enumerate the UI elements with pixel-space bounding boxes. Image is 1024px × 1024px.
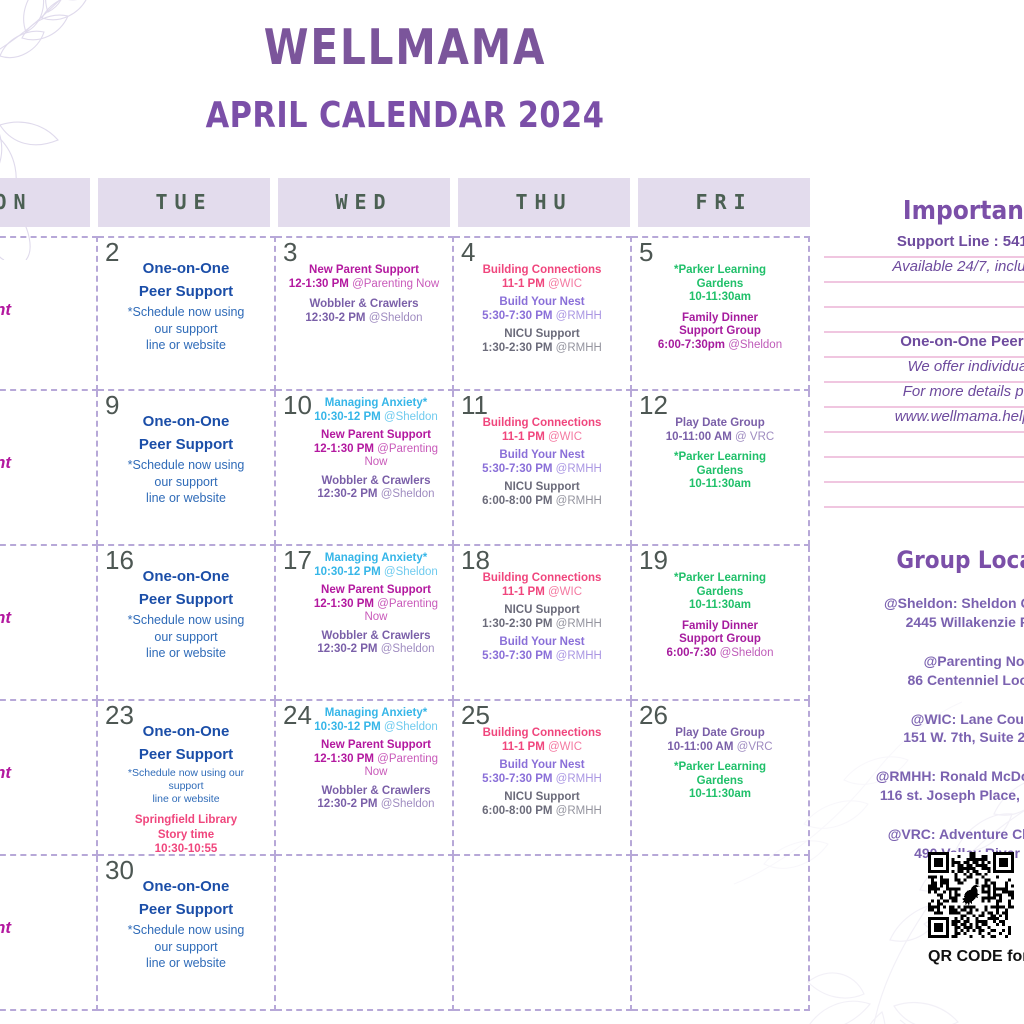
springfield-library-event[interactable]: Springfield LibraryStory time10:30-10:55 <box>103 813 269 856</box>
peer-support-note: *Schedule now usingour supportline or we… <box>103 922 269 972</box>
event-time: 10-11:30am <box>689 478 751 490</box>
important-line-2: Available 24/7, includin <box>824 258 1024 283</box>
event-time: 1:30-2:30 PM <box>482 342 552 354</box>
peer-support-note: *Schedule now using oursupportline or we… <box>103 767 269 806</box>
event-title: New Parent Support <box>305 429 447 443</box>
event-time: 10-11:00 AM <box>666 431 732 443</box>
day-number: 30 <box>105 857 134 883</box>
calendar-event[interactable]: Wobbler & Crawlers12:30-2 PM @Sheldon <box>305 630 447 657</box>
event-time-location: 12-1:30 PM @Parenting Now <box>305 753 447 780</box>
event-title: *Parker Learning <box>637 451 803 465</box>
calendar-event[interactable]: Build Your Nest5:30-7:30 PM @RMHH <box>459 636 625 663</box>
event-time-location: 11-1 PM @WIC <box>459 431 625 445</box>
qr-code-caption: QR CODE for mor <box>928 948 1024 966</box>
calendar-event[interactable]: Family DinnerSupport Group6:00-7:30 @She… <box>637 620 803 661</box>
event-location: @Parenting Now <box>349 278 439 290</box>
event-time-location: 11-1 PM @WIC <box>459 278 625 292</box>
calendar-event[interactable]: Family DinnerSupport Group6:00-7:30pm @S… <box>637 312 803 353</box>
calendar-event[interactable]: Wobbler & Crawlers12:30-2 PM @Sheldon <box>281 298 447 325</box>
peer-support-event[interactable]: One-on-OnePeer Support*Schedule now usin… <box>103 566 269 662</box>
calendar-day-cell-2[interactable]: 2One-on-OnePeer Support*Schedule now usi… <box>98 236 276 391</box>
calendar-event[interactable]: Build Your Nest5:30-7:30 PM @RMHH <box>459 759 625 786</box>
event-time: 11-1 PM <box>502 586 545 598</box>
calendar-event[interactable]: Play Date Group10-11:00 AM @ VRC <box>637 417 803 444</box>
event-title: Building Connections <box>459 264 625 278</box>
event-time-location: 5:30-7:30 PM @RMHH <box>459 650 625 664</box>
event-time: 12-1:30 PM <box>314 598 374 610</box>
calendar-event[interactable]: NICU Support6:00-8:00 PM @RMHH <box>459 481 625 508</box>
calendar-day-cell-empty[interactable]: velopment <box>0 236 98 391</box>
peer-support-event[interactable]: One-on-OnePeer Support*Schedule now usin… <box>103 721 269 856</box>
event-time: 10-11:30am <box>689 788 751 800</box>
event-location: @Parenting Now <box>364 443 438 469</box>
calendar-event[interactable]: Build Your Nest5:30-7:30 PM @RMHH <box>459 296 625 323</box>
event-location: @Sheldon <box>716 647 773 659</box>
peer-support-event[interactable]: One-on-OnePeer Support*Schedule now usin… <box>103 411 269 507</box>
event-title-line2: Support Group <box>637 633 803 647</box>
calendar-day-cell-empty[interactable]: velopment <box>0 391 98 546</box>
event-time-location: 5:30-7:30 PM @RMHH <box>459 773 625 787</box>
event-location: @RMHH <box>552 618 601 630</box>
peer-support-event[interactable]: One-on-OnePeer Support*Schedule now usin… <box>103 258 269 354</box>
event-location: @VRC <box>733 741 772 753</box>
group-locations-panel: Group Locati @Sheldon: Sheldon Comm2445 … <box>824 546 1024 863</box>
event-location: @WIC <box>545 586 582 598</box>
event-title: *Parker Learning <box>637 264 803 278</box>
day-header-tue: TUE <box>98 178 270 227</box>
calendar-day-cell-10[interactable]: 10Managing Anxiety*10:30-12 PM @SheldonN… <box>276 391 454 546</box>
event-time-location: 6:00-7:30pm @Sheldon <box>637 339 803 353</box>
event-time-location: 12:30-2 PM @Sheldon <box>281 312 447 326</box>
day-header-mon: MON <box>0 178 90 227</box>
event-time: 10-11:30am <box>689 291 751 303</box>
location-line: @VRC: Adventure Childre <box>824 825 1024 844</box>
day-number: 2 <box>105 239 119 265</box>
calendar-day-cell-16[interactable]: 16One-on-OnePeer Support*Schedule now us… <box>98 546 276 701</box>
event-location: @Sheldon <box>378 798 435 810</box>
important-line-11 <box>824 483 1024 508</box>
day-number: 3 <box>283 239 297 265</box>
calendar-day-cell-23[interactable]: 23One-on-OnePeer Support*Schedule now us… <box>98 701 276 856</box>
event-title-line2: Gardens <box>637 775 803 789</box>
brand-title: WELLMAMA <box>32 22 777 73</box>
calendar-page: WELLMAMA APRIL CALENDAR 2024 MONTUEWEDTH… <box>0 0 1024 1024</box>
location-entry-1: @Sheldon: Sheldon Comm2445 Willakenzie R… <box>824 594 1024 632</box>
event-title: New Parent Support <box>305 739 447 753</box>
event-location: @Sheldon <box>378 488 435 500</box>
event-location: @RMHH <box>552 495 601 507</box>
event-title: NICU Support <box>459 328 625 342</box>
event-time-location: 10-11:30am <box>637 478 803 492</box>
important-ruled-lines: Support Line : 541-5Available 24/7, incl… <box>824 233 1024 508</box>
calendar-day-cell-26[interactable]: 26Play Date Group10-11:00 AM @VRC*Parker… <box>632 701 810 856</box>
location-line: @RMHH: Ronald McDonald H <box>824 767 1024 786</box>
event-time: 12:30-2 PM <box>317 798 377 810</box>
event-title: NICU Support <box>459 791 625 805</box>
calendar-day-cell-4[interactable]: 4Building Connections11-1 PM @WICBuild Y… <box>454 236 632 391</box>
important-line-3 <box>824 283 1024 308</box>
calendar-day-cell-5[interactable]: 5*Parker LearningGardens10-11:30amFamily… <box>632 236 810 391</box>
event-location: @WIC <box>545 431 582 443</box>
calendar-day-cell-empty[interactable]: velopment <box>0 701 98 856</box>
qr-code-image[interactable] <box>928 852 1014 938</box>
event-title: Wobbler & Crawlers <box>305 475 447 489</box>
monday-recurring-label[interactable]: velopment <box>0 763 98 783</box>
event-location: @WIC <box>545 741 582 753</box>
calendar-day-cell-12[interactable]: 12Play Date Group10-11:00 AM @ VRC*Parke… <box>632 391 810 546</box>
day-header-wed: WED <box>278 178 450 227</box>
calendar-day-cell-empty[interactable] <box>632 856 810 1011</box>
calendar-day-cell-25[interactable]: 25Building Connections11-1 PM @WICBuild … <box>454 701 632 856</box>
event-title: New Parent Support <box>281 264 447 278</box>
calendar-week-row: velopment9One-on-OnePeer Support*Schedul… <box>0 391 810 546</box>
calendar-day-cell-empty[interactable]: velopment <box>0 856 98 1011</box>
event-time: 10-11:30am <box>689 599 751 611</box>
calendar-event[interactable]: Managing Anxiety*10:30-12 PM @Sheldon <box>305 397 447 424</box>
location-line: @WIC: Lane Count <box>824 710 1024 729</box>
day-cell-body: Building Connections11-1 PM @WICBuild Yo… <box>459 242 625 355</box>
important-line-9 <box>824 433 1024 458</box>
important-line-6: We offer individual <box>824 358 1024 383</box>
event-title: New Parent Support <box>305 584 447 598</box>
monday-recurring-label[interactable]: velopment <box>0 300 98 320</box>
event-title: NICU Support <box>459 604 625 618</box>
page-header: WELLMAMA APRIL CALENDAR 2024 <box>0 22 810 136</box>
event-title: Managing Anxiety* <box>305 397 447 411</box>
day-number: 24 <box>283 702 312 728</box>
group-locations-heading: Group Locati <box>824 546 1024 574</box>
event-title-line2: Gardens <box>637 465 803 479</box>
location-line: @Parenting No <box>824 652 1024 671</box>
page-title: APRIL CALENDAR 2024 <box>24 95 785 136</box>
event-time: 10:30-12 PM <box>314 721 380 733</box>
calendar-day-cell-19[interactable]: 19*Parker LearningGardens10-11:30amFamil… <box>632 546 810 701</box>
event-time-location: 11-1 PM @WIC <box>459 741 625 755</box>
day-cell-body: *Parker LearningGardens10-11:30amFamily … <box>637 242 803 352</box>
calendar-day-cell-17[interactable]: 17Managing Anxiety*10:30-12 PM @SheldonN… <box>276 546 454 701</box>
event-time: 6:00-8:00 PM <box>482 495 552 507</box>
event-title: Build Your Nest <box>459 759 625 773</box>
day-header-thu: THU <box>458 178 630 227</box>
event-time-location: 10:30-12 PM @Sheldon <box>305 411 447 425</box>
calendar-day-cell-11[interactable]: 11Building Connections11-1 PM @WICBuild … <box>454 391 632 546</box>
event-time: 6:00-7:30 <box>667 647 717 659</box>
important-line-7: For more details ple <box>824 383 1024 408</box>
day-number: 12 <box>639 392 668 418</box>
day-number: 10 <box>283 392 312 418</box>
day-cell-body: One-on-OnePeer Support*Schedule now usin… <box>103 395 269 507</box>
event-time: 11-1 PM <box>502 431 545 443</box>
calendar-day-cell-30[interactable]: 30One-on-OnePeer Support*Schedule now us… <box>98 856 276 1011</box>
important-heading: Important <box>824 196 1024 226</box>
calendar-event[interactable]: New Parent Support12-1:30 PM @Parenting … <box>305 739 447 780</box>
calendar-event[interactable]: NICU Support1:30-2:30 PM @RMHH <box>459 328 625 355</box>
event-location: @Sheldon <box>366 312 423 324</box>
event-time-location: 10:30-12 PM @Sheldon <box>305 566 447 580</box>
calendar-event[interactable]: *Parker LearningGardens10-11:30am <box>637 761 803 802</box>
event-time: 12:30-2 PM <box>317 488 377 500</box>
calendar-event[interactable]: NICU Support6:00-8:00 PM @RMHH <box>459 791 625 818</box>
calendar-event[interactable]: Managing Anxiety*10:30-12 PM @Sheldon <box>305 707 447 734</box>
peer-support-note: *Schedule now usingour supportline or we… <box>103 457 269 507</box>
important-line-4 <box>824 308 1024 333</box>
event-location: @RMHH <box>552 805 601 817</box>
event-time: 5:30-7:30 PM <box>482 463 552 475</box>
peer-support-title: One-on-OnePeer Support <box>103 411 269 456</box>
event-title: Wobbler & Crawlers <box>281 298 447 312</box>
event-time-location: 6:00-8:00 PM @RMHH <box>459 805 625 819</box>
event-location: @WIC <box>545 278 582 290</box>
event-time-location: 1:30-2:30 PM @RMHH <box>459 618 625 632</box>
calendar-event[interactable]: *Parker LearningGardens10-11:30am <box>637 264 803 305</box>
event-time-location: 12-1:30 PM @Parenting Now <box>281 278 447 292</box>
calendar-weeks: velopment2One-on-OnePeer Support*Schedul… <box>0 236 810 1011</box>
event-title: NICU Support <box>459 481 625 495</box>
monday-recurring-label[interactable]: velopment <box>0 918 98 938</box>
event-location: @RMHH <box>552 463 601 475</box>
day-number: 23 <box>105 702 134 728</box>
calendar-grid: MONTUEWEDTHUFRI velopment2One-on-OnePeer… <box>0 178 810 1011</box>
event-time: 10:30-12 PM <box>314 411 380 423</box>
day-number: 26 <box>639 702 668 728</box>
calendar-event[interactable]: New Parent Support12-1:30 PM @Parenting … <box>305 584 447 625</box>
event-location: @Sheldon <box>381 721 438 733</box>
event-time: 6:00-8:00 PM <box>482 805 552 817</box>
event-title: Build Your Nest <box>459 449 625 463</box>
event-title: Family Dinner <box>637 312 803 326</box>
calendar-week-row: velopment30One-on-OnePeer Support*Schedu… <box>0 856 810 1011</box>
important-line-10 <box>824 458 1024 483</box>
calendar-event[interactable]: New Parent Support12-1:30 PM @Parenting … <box>305 429 447 470</box>
calendar-week-row: velopment2One-on-OnePeer Support*Schedul… <box>0 236 810 391</box>
calendar-event[interactable]: Play Date Group10-11:00 AM @VRC <box>637 727 803 754</box>
event-title-line2: Gardens <box>637 278 803 292</box>
event-location: @Sheldon <box>378 643 435 655</box>
calendar-day-cell-empty[interactable] <box>454 856 632 1011</box>
event-time: 11-1 PM <box>502 741 545 753</box>
event-time: 12:30-2 PM <box>305 312 365 324</box>
calendar-event[interactable]: Managing Anxiety*10:30-12 PM @Sheldon <box>305 552 447 579</box>
event-title: Build Your Nest <box>459 636 625 650</box>
event-time-location: 10-11:30am <box>637 788 803 802</box>
event-time-location: 11-1 PM @WIC <box>459 586 625 600</box>
event-title-line2: Gardens <box>637 586 803 600</box>
event-time: 5:30-7:30 PM <box>482 650 552 662</box>
event-time-location: 12-1:30 PM @Parenting Now <box>305 443 447 470</box>
event-time: 10-11:00 AM <box>667 741 733 753</box>
location-entry-2: @Parenting No86 Centenniel Loop, <box>824 652 1024 690</box>
event-time-location: 10-11:30am <box>637 599 803 613</box>
day-header-row: MONTUEWEDTHUFRI <box>0 178 810 227</box>
day-number: 5 <box>639 239 653 265</box>
day-cell-body: New Parent Support12-1:30 PM @Parenting … <box>281 242 447 325</box>
important-panel: Important Support Line : 541-5Available … <box>824 196 1024 508</box>
event-time: 10:30-12 PM <box>314 566 380 578</box>
event-title: Managing Anxiety* <box>305 707 447 721</box>
day-cell-body: One-on-OnePeer Support*Schedule now usin… <box>103 242 269 354</box>
location-line: 86 Centenniel Loop, <box>824 671 1024 690</box>
calendar-event[interactable]: Wobbler & Crawlers12:30-2 PM @Sheldon <box>305 785 447 812</box>
monday-recurring-label[interactable]: velopment <box>0 453 98 473</box>
location-entry-3: @WIC: Lane Count151 W. 7th, Suite 210, <box>824 710 1024 748</box>
calendar-event[interactable]: NICU Support1:30-2:30 PM @RMHH <box>459 604 625 631</box>
event-time-location: 5:30-7:30 PM @RMHH <box>459 310 625 324</box>
event-time-location: 10-11:30am <box>637 291 803 305</box>
event-location: @Sheldon <box>725 339 782 351</box>
important-line-1: Support Line : 541-5 <box>824 233 1024 258</box>
event-location: @Parenting Now <box>364 598 438 624</box>
calendar-day-cell-empty[interactable] <box>276 856 454 1011</box>
day-number: 4 <box>461 239 475 265</box>
day-number: 11 <box>461 392 488 418</box>
calendar-event[interactable]: Building Connections11-1 PM @WIC <box>459 727 625 754</box>
day-number: 18 <box>461 547 490 573</box>
event-time: 12-1:30 PM <box>314 443 374 455</box>
day-number: 9 <box>105 392 119 418</box>
peer-support-note: *Schedule now usingour supportline or we… <box>103 612 269 662</box>
event-time: 12-1:30 PM <box>289 278 349 290</box>
day-number: 16 <box>105 547 134 573</box>
day-number: 25 <box>461 702 490 728</box>
event-time-location: 6:00-8:00 PM @RMHH <box>459 495 625 509</box>
calendar-event[interactable]: Building Connections11-1 PM @WIC <box>459 417 625 444</box>
event-time-location: 5:30-7:30 PM @RMHH <box>459 463 625 477</box>
calendar-event[interactable]: Wobbler & Crawlers12:30-2 PM @Sheldon <box>305 475 447 502</box>
event-time: 12-1:30 PM <box>314 753 374 765</box>
event-time: 1:30-2:30 PM <box>482 618 552 630</box>
calendar-event[interactable]: Building Connections11-1 PM @WIC <box>459 264 625 291</box>
location-line: 151 W. 7th, Suite 210, <box>824 728 1024 747</box>
event-title: Build Your Nest <box>459 296 625 310</box>
calendar-day-cell-24[interactable]: 24Managing Anxiety*10:30-12 PM @SheldonN… <box>276 701 454 856</box>
important-line-8: www.wellmama.help/g <box>824 408 1024 433</box>
event-location: @Sheldon <box>381 411 438 423</box>
event-time-location: 12-1:30 PM @Parenting Now <box>305 598 447 625</box>
location-line: 2445 Willakenzie Rd. <box>824 613 1024 632</box>
event-location: @Parenting Now <box>364 753 438 779</box>
event-title-line2: Support Group <box>637 325 803 339</box>
event-time-location: 12:30-2 PM @Sheldon <box>305 798 447 812</box>
calendar-event[interactable]: Building Connections11-1 PM @WIC <box>459 572 625 599</box>
event-time-location: 1:30-2:30 PM @RMHH <box>459 342 625 356</box>
event-time-location: 10:30-12 PM @Sheldon <box>305 721 447 735</box>
peer-support-title: One-on-OnePeer Support <box>103 258 269 303</box>
calendar-event[interactable]: Build Your Nest5:30-7:30 PM @RMHH <box>459 449 625 476</box>
event-time-location: 10-11:00 AM @ VRC <box>637 431 803 445</box>
calendar-day-cell-18[interactable]: 18Building Connections11-1 PM @WICNICU S… <box>454 546 632 701</box>
event-location: @RMHH <box>552 650 601 662</box>
location-line: @Sheldon: Sheldon Comm <box>824 594 1024 613</box>
calendar-week-row: velopment23One-on-OnePeer Support*Schedu… <box>0 701 810 856</box>
location-entry-4: @RMHH: Ronald McDonald H116 st. Joseph P… <box>824 767 1024 805</box>
event-title: *Parker Learning <box>637 761 803 775</box>
calendar-week-row: velopment16One-on-OnePeer Support*Schedu… <box>0 546 810 701</box>
peer-support-note: *Schedule now usingour supportline or we… <box>103 304 269 354</box>
event-title: Wobbler & Crawlers <box>305 630 447 644</box>
calendar-event[interactable]: *Parker LearningGardens10-11:30am <box>637 572 803 613</box>
qr-code-block[interactable]: QR CODE for mor <box>928 852 1024 966</box>
event-time: 5:30-7:30 PM <box>482 773 552 785</box>
event-time-location: 10-11:00 AM @VRC <box>637 741 803 755</box>
day-number: 17 <box>283 547 312 573</box>
event-location: @ VRC <box>732 431 774 443</box>
day-header-fri: FRI <box>638 178 810 227</box>
event-title: Wobbler & Crawlers <box>305 785 447 799</box>
event-location: @RMHH <box>552 342 601 354</box>
peer-support-event[interactable]: One-on-OnePeer Support*Schedule now usin… <box>103 876 269 972</box>
event-time: 5:30-7:30 PM <box>482 310 552 322</box>
event-location: @Sheldon <box>381 566 438 578</box>
event-time: 6:00-7:30pm <box>658 339 725 351</box>
event-title: Family Dinner <box>637 620 803 634</box>
calendar-day-cell-empty[interactable]: velopment <box>0 546 98 701</box>
important-line-5: One-on-One Peer S <box>824 333 1024 358</box>
monday-recurring-label[interactable]: velopment <box>0 608 98 628</box>
event-time-location: 12:30-2 PM @Sheldon <box>305 643 447 657</box>
calendar-event[interactable]: *Parker LearningGardens10-11:30am <box>637 451 803 492</box>
event-time-location: 12:30-2 PM @Sheldon <box>305 488 447 502</box>
event-title: Managing Anxiety* <box>305 552 447 566</box>
group-locations-list: @Sheldon: Sheldon Comm2445 Willakenzie R… <box>824 594 1024 863</box>
calendar-event[interactable]: New Parent Support12-1:30 PM @Parenting … <box>281 264 447 291</box>
event-time-location: 6:00-7:30 @Sheldon <box>637 647 803 661</box>
event-location: @RMHH <box>552 310 601 322</box>
location-line: 116 st. Joseph Place, Spring <box>824 786 1024 805</box>
event-location: @RMHH <box>552 773 601 785</box>
event-time: 12:30-2 PM <box>317 643 377 655</box>
calendar-day-cell-9[interactable]: 9One-on-OnePeer Support*Schedule now usi… <box>98 391 276 546</box>
event-time: 11-1 PM <box>502 278 545 290</box>
calendar-day-cell-3[interactable]: 3New Parent Support12-1:30 PM @Parenting… <box>276 236 454 391</box>
day-number: 19 <box>639 547 668 573</box>
